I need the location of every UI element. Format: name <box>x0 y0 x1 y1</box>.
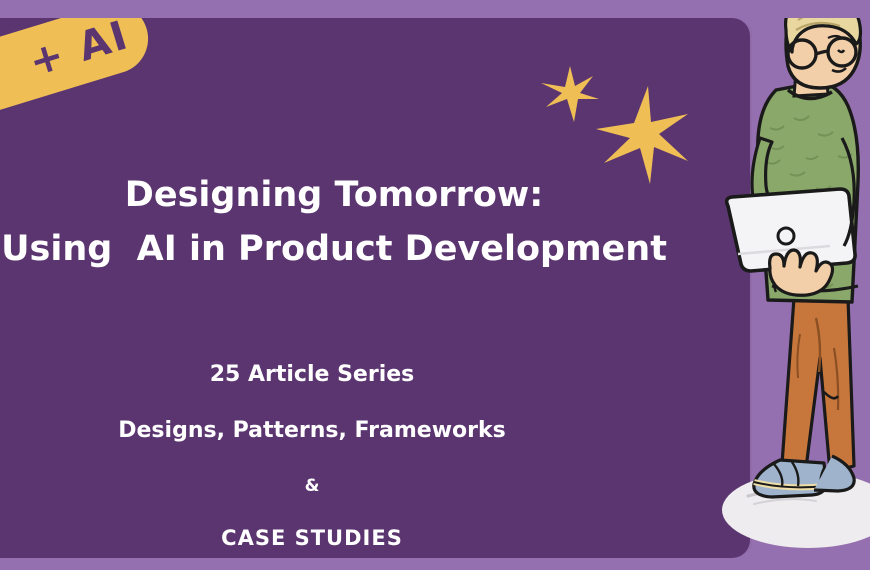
slide-canvas: + AI Designing Tomorrow:Using AI in Prod… <box>0 0 870 570</box>
bottom-background-strip <box>0 558 870 570</box>
top-background-strip <box>0 0 870 18</box>
person-holding-laptop-illustration <box>720 0 870 558</box>
sparkle-star-large-icon <box>596 86 688 184</box>
sparkle-star-small-icon <box>541 66 599 122</box>
